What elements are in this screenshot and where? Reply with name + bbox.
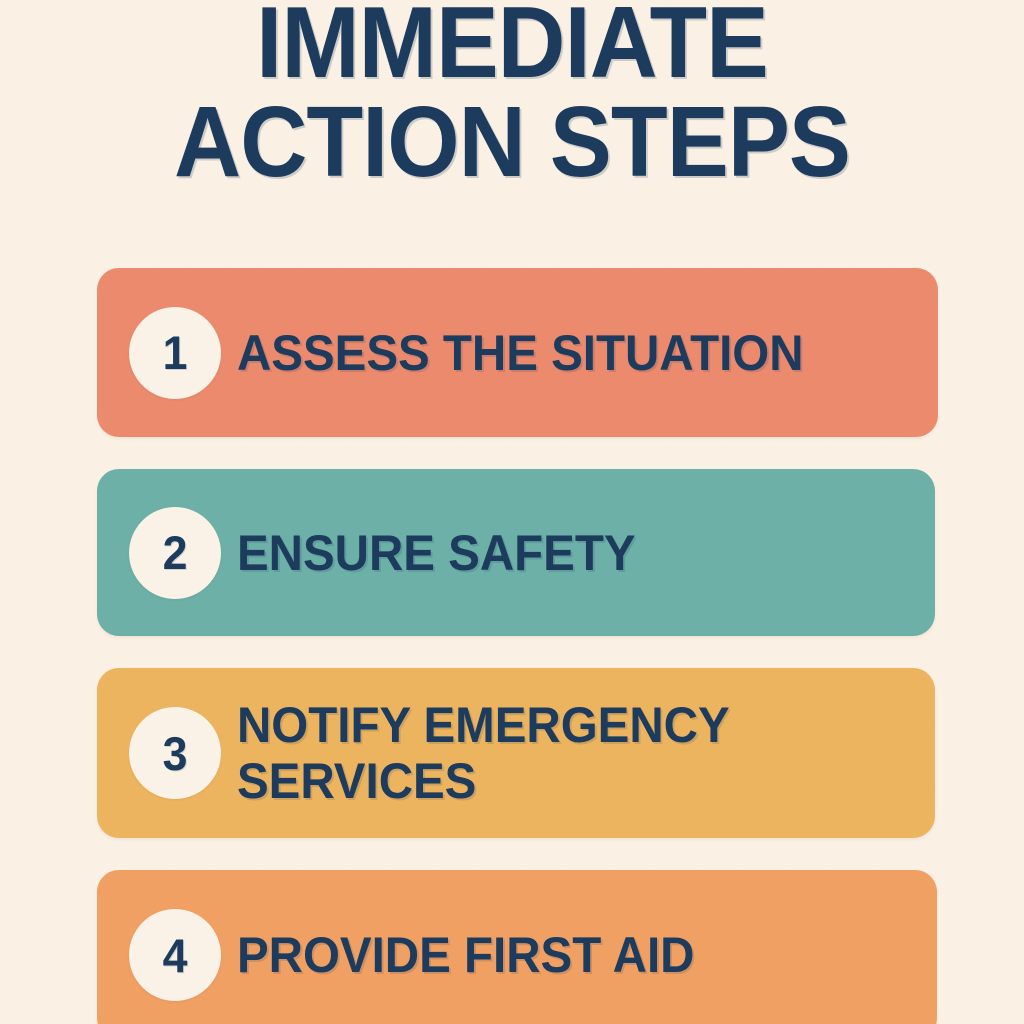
step-badge-3: 3 — [129, 707, 221, 799]
step-item-2[interactable]: 2 ENSURE SAFETY — [97, 469, 935, 636]
step-number-1: 1 — [163, 329, 188, 376]
step-label-3: NOTIFY EMERGENCY SERVICES — [237, 697, 749, 809]
step-item-4[interactable]: 4 PROVIDE FIRST AID — [97, 870, 937, 1024]
step-label-4: PROVIDE FIRST AID — [237, 927, 713, 983]
title-line-1: IMMEDIATE — [36, 0, 988, 93]
step-badge-1: 1 — [129, 307, 221, 399]
steps-list: 1 ASSESS THE SITUATION 2 ENSURE SAFETY 3… — [97, 268, 938, 1024]
step-number-2: 2 — [163, 529, 188, 576]
step-item-1[interactable]: 1 ASSESS THE SITUATION — [97, 268, 938, 437]
step-number-3: 3 — [163, 730, 188, 777]
step-badge-4: 4 — [129, 909, 221, 1001]
step-label-2: ENSURE SAFETY — [237, 525, 655, 581]
step-item-3[interactable]: 3 NOTIFY EMERGENCY SERVICES — [97, 668, 935, 838]
step-badge-2: 2 — [129, 507, 221, 599]
step-label-1: ASSESS THE SITUATION — [237, 325, 823, 381]
title-line-2: ACTION STEPS — [36, 93, 988, 191]
step-number-4: 4 — [163, 932, 188, 979]
page-title: IMMEDIATE ACTION STEPS — [0, 0, 1024, 191]
